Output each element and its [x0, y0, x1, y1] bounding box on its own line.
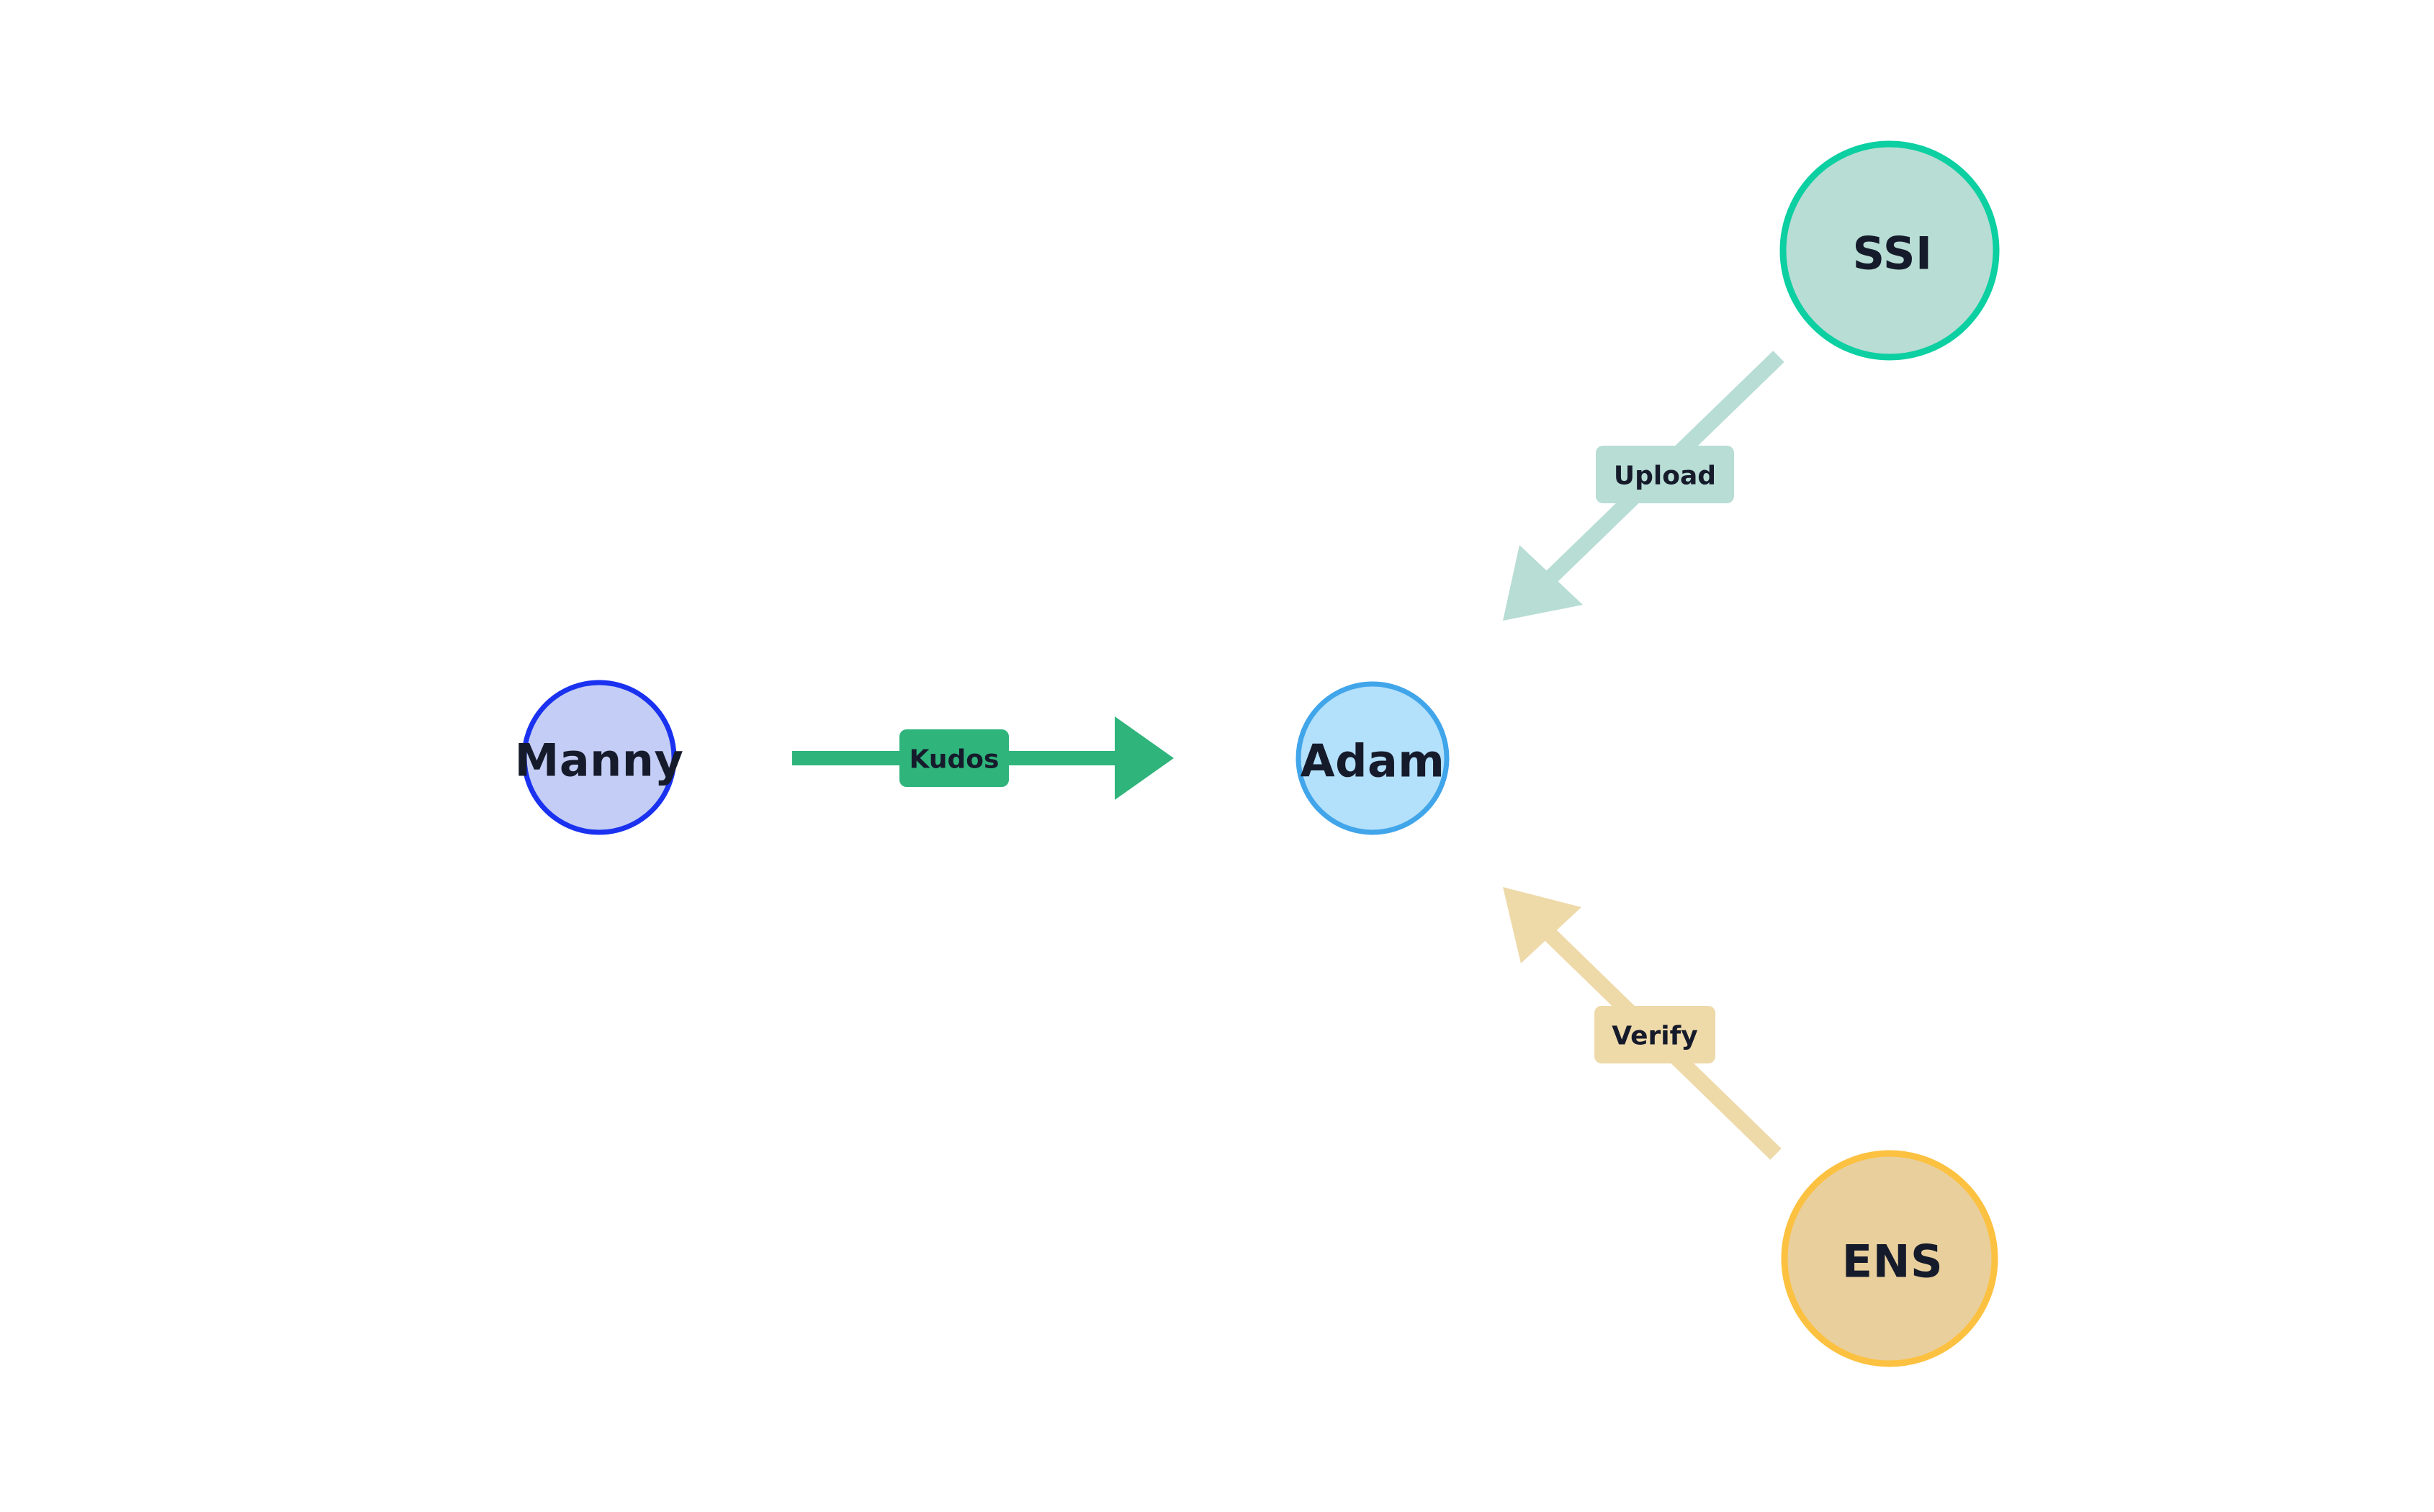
node-ens[interactable]: ENS: [1784, 1153, 1995, 1364]
edge-upload[interactable]: Upload: [1503, 356, 1779, 621]
edge-verify-label: Verify: [1612, 1022, 1698, 1051]
node-manny-label: Manny: [515, 734, 684, 787]
node-manny[interactable]: Manny: [515, 683, 684, 832]
node-adam[interactable]: Adam: [1298, 684, 1447, 832]
edge-kudos-arrowhead: [1115, 716, 1174, 800]
node-ens-label: ENS: [1842, 1236, 1943, 1288]
edge-verify[interactable]: Verify: [1503, 887, 1776, 1154]
edge-kudos[interactable]: Kudos: [792, 716, 1174, 800]
network-diagram: Kudos Upload Verify Manny Adam: [0, 0, 2434, 1512]
diagram-canvas: Kudos Upload Verify Manny Adam: [0, 0, 2434, 1512]
edge-upload-label: Upload: [1614, 462, 1716, 491]
node-ssi[interactable]: SSI: [1783, 144, 1996, 357]
edge-kudos-label: Kudos: [910, 745, 1000, 775]
node-ssi-label: SSI: [1852, 228, 1932, 280]
node-adam-label: Adam: [1301, 735, 1445, 788]
